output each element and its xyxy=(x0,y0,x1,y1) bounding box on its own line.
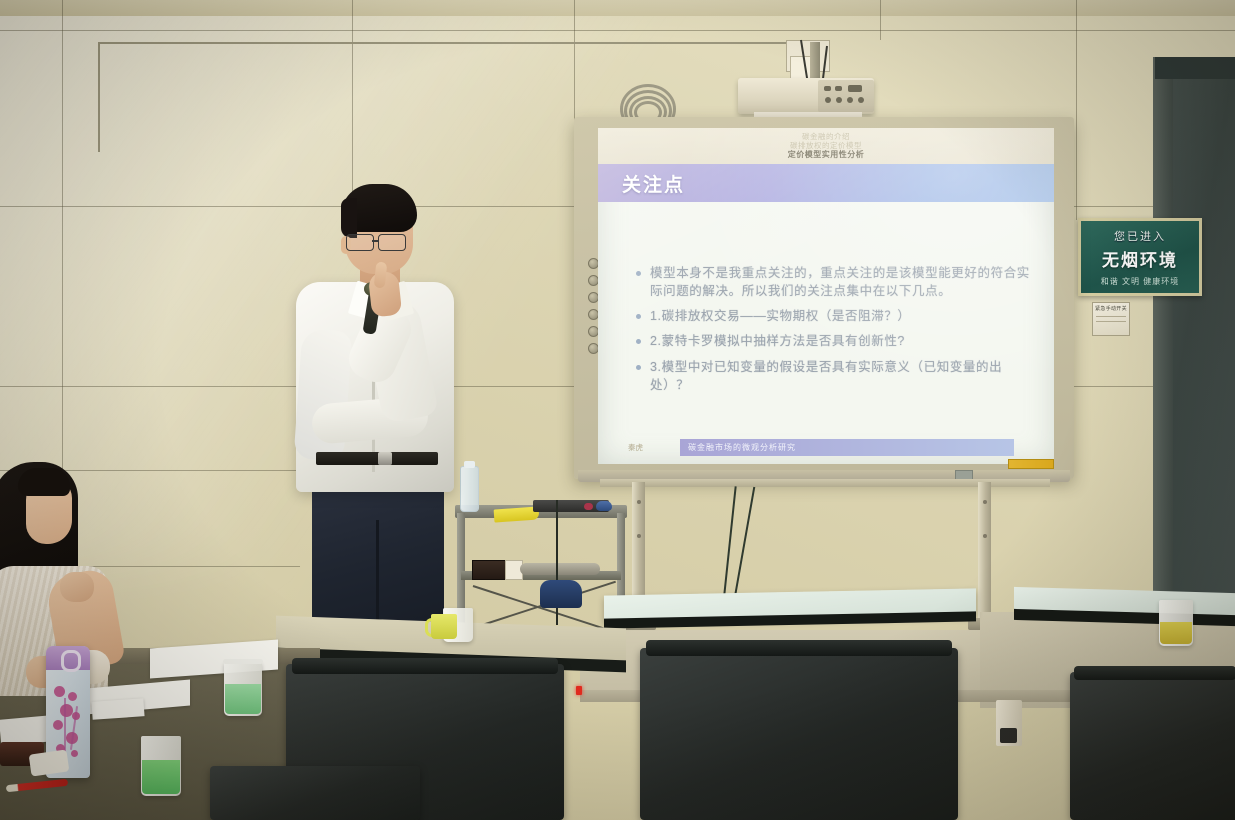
bottle-cap xyxy=(464,461,475,468)
glasses-lens-right xyxy=(378,234,406,251)
chair-foreground[interactable] xyxy=(210,766,420,820)
attendee-fringe xyxy=(18,468,70,496)
blue-bag xyxy=(540,580,582,608)
red-accessory[interactable] xyxy=(584,503,593,510)
attendee-hand xyxy=(60,572,94,602)
chair-rim xyxy=(1074,666,1235,680)
wall-grid-line xyxy=(1076,0,1077,220)
bullet-dot-icon xyxy=(636,314,641,319)
slide-bullet-text: 3.模型中对已知变量的假设是否具有实际意义（已知变量的出处）？ xyxy=(650,358,1034,394)
sign-line-1: 您已进入 xyxy=(1114,228,1166,244)
mouse[interactable] xyxy=(596,501,612,511)
sign-line-3: 和谐 文明 健康环境 xyxy=(1101,276,1179,287)
whiteboard-stand-leg xyxy=(978,482,991,630)
glasses-bridge xyxy=(372,240,378,242)
door-head xyxy=(1155,57,1235,79)
slide-header-line-3: 定价模型实用性分析 xyxy=(788,150,865,160)
slide-footer: 秦虎 碳金融市场的微观分析研究 xyxy=(598,430,1054,464)
yellow-mug[interactable] xyxy=(431,614,457,639)
wall-conduit-drop xyxy=(98,42,100,152)
paper-cup-green-tea-left[interactable] xyxy=(141,736,181,796)
notepad[interactable] xyxy=(91,698,144,720)
glasses-lens-left xyxy=(346,234,374,251)
emergency-switch-panel[interactable]: 紧急手动开关 xyxy=(1092,302,1130,336)
slide-bullet: 模型本身不是我重点关注的，重点关注的是该模型能更好的符合实际问题的解决。所以我们… xyxy=(636,264,1034,300)
wall-grid-line xyxy=(574,0,575,120)
slide-footer-author: 秦虎 xyxy=(628,442,680,453)
whiteboard-brand-label xyxy=(1008,459,1054,469)
cable-reel xyxy=(520,563,600,575)
bullet-dot-icon xyxy=(636,339,641,344)
slide-header-line-2: 碳排放权的定价模型 xyxy=(790,141,862,150)
panel-divider xyxy=(1096,316,1126,317)
floor-speaker xyxy=(996,700,1022,746)
wall-conduit xyxy=(98,42,788,44)
chair-rim xyxy=(292,658,558,674)
slide-bullet-text: 1.碳排放权交易——实物期权（是否阻滞？） xyxy=(650,307,911,325)
presenter-belt xyxy=(316,452,438,465)
paper-cup-green-tea-right[interactable] xyxy=(224,662,262,716)
slide-bullet: 2.蒙特卡罗模拟中抽样方法是否具有创新性? xyxy=(636,332,1034,350)
projector-io-panel xyxy=(818,80,874,112)
tea-liquid xyxy=(142,760,180,794)
slide-footer-title: 碳金融市场的微观分析研究 xyxy=(680,439,1014,456)
presenter-hair-side xyxy=(341,198,357,238)
thermos-loop xyxy=(61,650,81,672)
tea-liquid xyxy=(1160,622,1192,644)
wall-grid-line xyxy=(352,0,353,200)
smoke-free-sign: 您已进入 无烟环境 和谐 文明 健康环境 xyxy=(1078,218,1202,296)
presenter-belt-buckle xyxy=(378,452,392,465)
slide-bullet: 3.模型中对已知变量的假设是否具有实际意义（已知变量的出处）？ xyxy=(636,358,1034,394)
door-jamb xyxy=(1153,57,1173,617)
projected-slide: 碳金融的介绍 碳排放权的定价模型 定价模型实用性分析 关注点 模型本身不是我重点… xyxy=(598,128,1054,464)
bullet-dot-icon xyxy=(636,365,641,370)
slide-title: 关注点 xyxy=(622,170,685,197)
wall-grid-line xyxy=(880,0,881,40)
chair-status-indicator xyxy=(576,686,582,695)
cup-lid xyxy=(223,659,263,664)
slide-header-line-1: 碳金融的介绍 xyxy=(802,132,850,141)
sign-line-2: 无烟环境 xyxy=(1102,246,1178,271)
chair-front-right[interactable] xyxy=(1070,672,1235,820)
slide-bullet-text: 2.蒙特卡罗模拟中抽样方法是否具有创新性? xyxy=(650,332,905,350)
paper-cup-tea-far-right[interactable] xyxy=(1159,600,1193,646)
projector-mount-arm xyxy=(810,42,820,82)
chair-rim xyxy=(646,640,952,656)
bullet-dot-icon xyxy=(636,271,641,276)
ceiling-strip xyxy=(0,0,1235,16)
wall-grid-line xyxy=(0,30,1235,31)
emergency-switch-label: 紧急手动开关 xyxy=(1093,305,1129,312)
water-bottle[interactable] xyxy=(460,466,479,512)
slide-header: 碳金融的介绍 碳排放权的定价模型 定价模型实用性分析 xyxy=(598,128,1054,164)
slide-title-bar: 关注点 xyxy=(598,164,1054,202)
panel-divider xyxy=(1096,321,1126,322)
tea-liquid xyxy=(225,684,261,714)
presentation-room-photo: 您已进入 无烟环境 和谐 文明 健康环境 紧急手动开关 xyxy=(0,0,1235,820)
slide-bullet-text: 模型本身不是我重点关注的，重点关注的是该模型能更好的符合实际问题的解决。所以我们… xyxy=(650,264,1034,300)
slide-bullet: 1.碳排放权交易——实物期权（是否阻滞？） xyxy=(636,307,1034,325)
slide-body: 模型本身不是我重点关注的，重点关注的是该模型能更好的符合实际问题的解决。所以我们… xyxy=(598,202,1054,430)
chair-front-center[interactable] xyxy=(640,648,958,820)
